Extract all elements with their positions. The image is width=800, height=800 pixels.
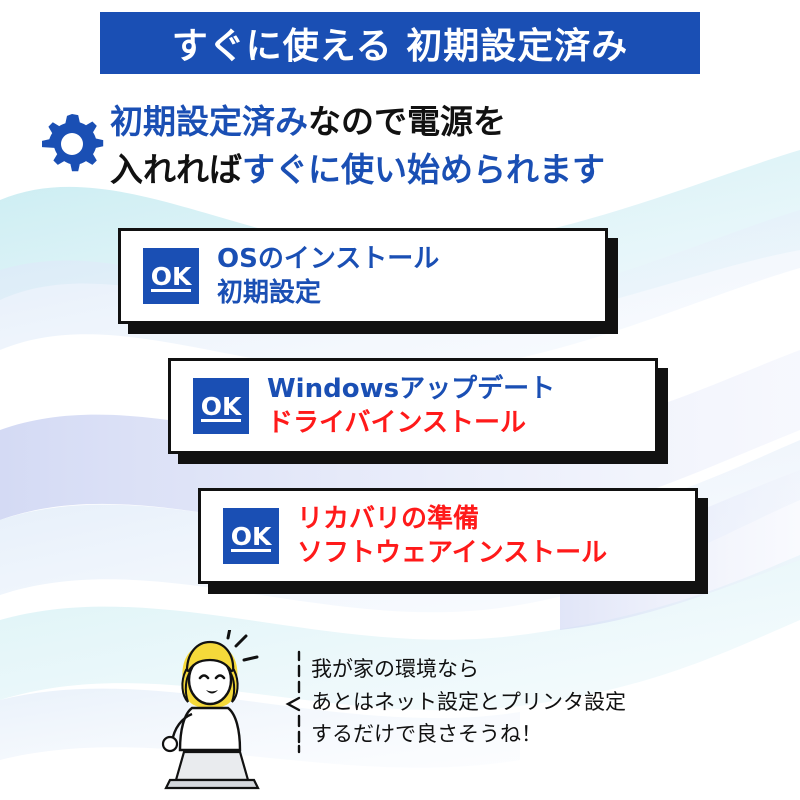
gear-icon (40, 112, 104, 176)
speech-block: 我が家の環境なら あとはネット設定とプリンタ設定 するだけで良さそうね！ (285, 650, 626, 754)
speech-line-3: するだけで良さそうね！ (311, 718, 626, 751)
headline-line-2: 入れればすぐに使い始められます (110, 146, 605, 194)
feature-card-3-line1: リカバリの準備 (297, 502, 607, 536)
ok-badge-2-label: OK (201, 392, 242, 421)
ok-badge-1-label: OK (151, 262, 192, 291)
speech-text: 我が家の環境なら あとはネット設定とプリンタ設定 するだけで良さそうね！ (311, 653, 626, 751)
ok-badge-3-label: OK (231, 522, 272, 551)
feature-card-2-line1: Windowsアップデート (267, 372, 555, 406)
header-banner: すぐに使える 初期設定済み (100, 12, 700, 74)
feature-card-1-text: OSのインストール 初期設定 (217, 242, 439, 311)
feature-card-1: OK OSのインストール 初期設定 (118, 228, 608, 324)
feature-card-3-text: リカバリの準備 ソフトウェアインストール (297, 502, 607, 571)
speech-line-1: 我が家の環境なら (311, 653, 626, 686)
headline-line-1: 初期設定済みなので電源を (110, 98, 605, 146)
ok-badge-3: OK (223, 508, 279, 564)
feature-card-1-line2: 初期設定 (217, 276, 439, 310)
ok-badge-1: OK (143, 248, 199, 304)
poster-root: すぐに使える 初期設定済み 初期設定済みなので電源を 入れればすぐに使い始められ… (0, 0, 800, 800)
feature-card-3-line2: ソフトウェアインストール (297, 536, 607, 570)
headline-block: 初期設定済みなので電源を 入れればすぐに使い始められます (40, 98, 780, 194)
feature-card-2-text: Windowsアップデート ドライバインストール (267, 372, 555, 441)
header-title: すぐに使える 初期設定済み (172, 17, 628, 69)
headline-line2-part2: すぐに使い始められます (242, 150, 605, 189)
headline-line2-part1: 入れれば (110, 150, 242, 189)
feature-card-3: OK リカバリの準備 ソフトウェアインストール (198, 488, 698, 584)
feature-card-2: OK Windowsアップデート ドライバインストール (168, 358, 658, 454)
feature-card-1-line1: OSのインストール (217, 242, 439, 276)
ok-badge-1-underline (151, 289, 191, 292)
character-illustration (140, 630, 290, 790)
headline-line1-part1: 初期設定済み (110, 102, 308, 141)
headline-text: 初期設定済みなので電源を 入れればすぐに使い始められます (110, 98, 605, 194)
feature-card-2-line2: ドライバインストール (267, 406, 555, 440)
speech-bracket-icon (285, 650, 303, 754)
ok-badge-3-underline (231, 549, 271, 552)
ok-badge-2-underline (201, 419, 241, 422)
speech-line-2: あとはネット設定とプリンタ設定 (311, 686, 626, 719)
ok-badge-2: OK (193, 378, 249, 434)
headline-line1-part2: なので電源を (308, 102, 506, 141)
